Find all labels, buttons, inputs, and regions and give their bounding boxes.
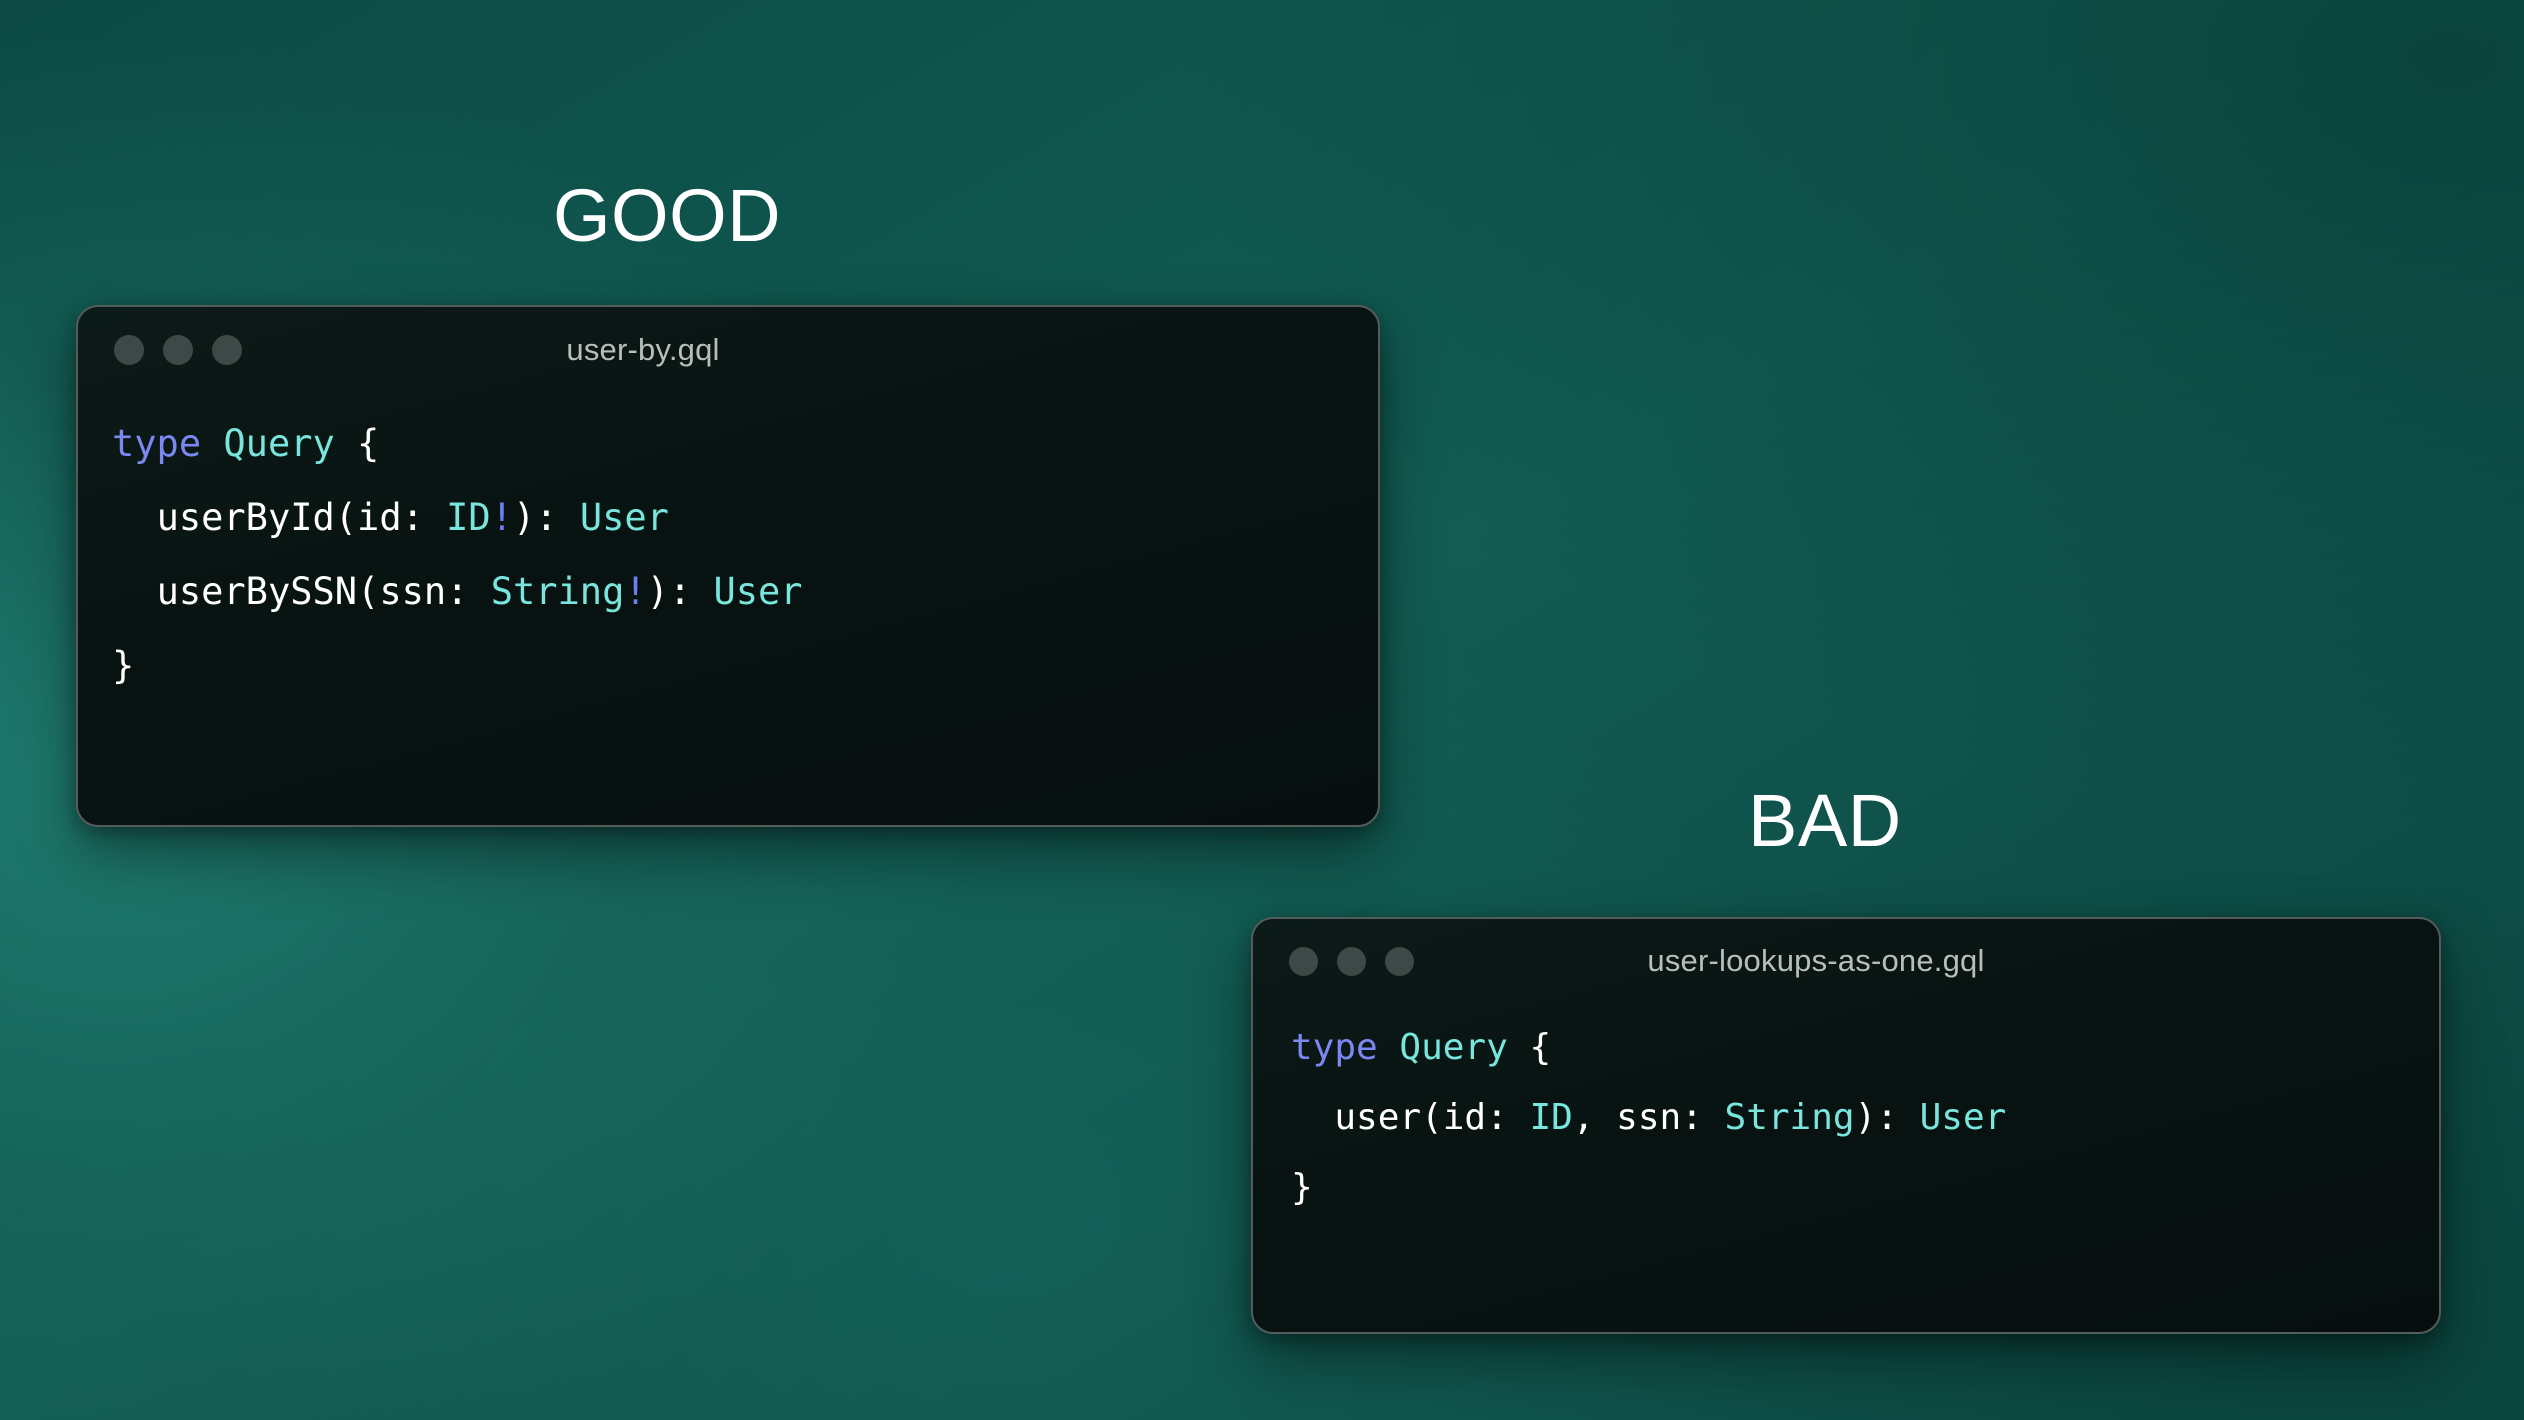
code-block-good[interactable]: type Query { userById(id: ID!): User use… <box>78 393 1378 703</box>
code-window-good: user-by.gql type Query { userById(id: ID… <box>76 305 1380 827</box>
token-nonnull-1: ! <box>491 496 513 539</box>
token-close-paren-1: ): <box>513 496 580 539</box>
minimize-icon[interactable] <box>163 335 193 365</box>
token-close-brace-good: } <box>112 644 134 687</box>
token-type-string: String <box>491 570 625 613</box>
token-nonnull-2: ! <box>624 570 646 613</box>
close-icon[interactable] <box>1289 947 1318 976</box>
stage: GOOD user-by.gql type Query { userById(i… <box>0 0 2524 1420</box>
good-label: GOOD <box>553 175 781 257</box>
token-space-bad <box>1378 1027 1400 1068</box>
token-space <box>201 422 223 465</box>
token-type-id: ID <box>446 496 491 539</box>
token-type-id-bad: ID <box>1529 1097 1572 1138</box>
token-indent-1 <box>112 496 157 539</box>
token-return-user-bad: User <box>1920 1097 2007 1138</box>
token-arg-separator: , ssn: <box>1573 1097 1725 1138</box>
token-open-brace: { <box>335 422 380 465</box>
token-open-brace-bad: { <box>1508 1027 1551 1068</box>
token-type-query: Query <box>223 422 334 465</box>
filename-good: user-by.gql <box>76 332 1378 368</box>
close-icon[interactable] <box>114 335 144 365</box>
token-field-user: user(id: <box>1334 1097 1529 1138</box>
minimize-icon[interactable] <box>1337 947 1366 976</box>
token-close-brace-bad: } <box>1291 1167 1313 1208</box>
code-window-bad: user-lookups-as-one.gql type Query { use… <box>1251 917 2441 1334</box>
traffic-lights-good <box>114 335 242 365</box>
token-field-userbyid: userById(id: <box>157 496 447 539</box>
token-type-string-bad: String <box>1725 1097 1855 1138</box>
titlebar-bad: user-lookups-as-one.gql <box>1253 919 2439 1003</box>
token-field-userbyssn: userBySSN(ssn: <box>157 570 491 613</box>
token-keyword-type-bad: type <box>1291 1027 1378 1068</box>
traffic-lights-bad <box>1289 947 1414 976</box>
token-close-paren-bad: ): <box>1855 1097 1920 1138</box>
filename-bad: user-lookups-as-one.gql <box>1251 943 2439 979</box>
code-block-bad[interactable]: type Query { user(id: ID, ssn: String): … <box>1253 1003 2439 1223</box>
token-close-paren-2: ): <box>647 570 714 613</box>
token-return-user-1: User <box>580 496 669 539</box>
token-indent-2 <box>112 570 157 613</box>
titlebar-good: user-by.gql <box>78 307 1378 393</box>
bad-label: BAD <box>1748 780 1902 862</box>
token-return-user-2: User <box>713 570 802 613</box>
maximize-icon[interactable] <box>212 335 242 365</box>
token-type-query-bad: Query <box>1399 1027 1507 1068</box>
token-indent-bad <box>1291 1097 1334 1138</box>
maximize-icon[interactable] <box>1385 947 1414 976</box>
token-keyword-type: type <box>112 422 201 465</box>
